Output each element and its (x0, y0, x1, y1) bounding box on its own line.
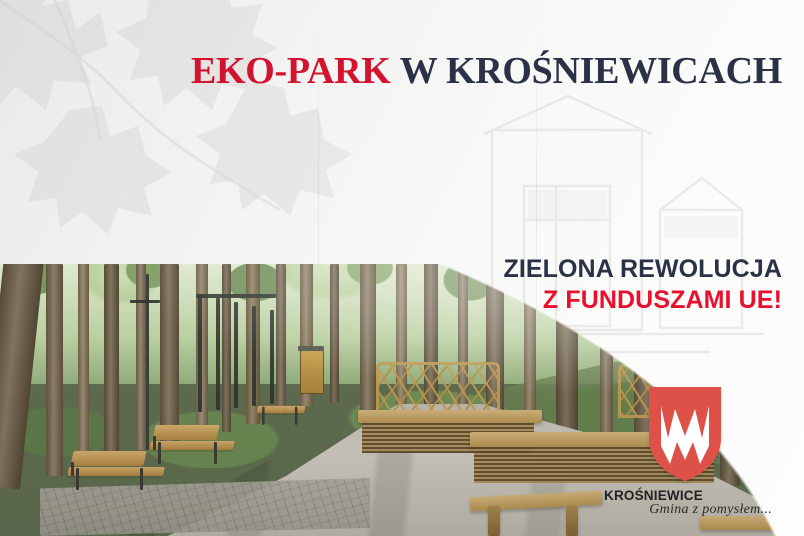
coat-of-arms-icon (648, 386, 722, 482)
shield-body (649, 387, 721, 481)
municipality-logo: KROŚNIEWICE Gmina z pomysłem... (590, 386, 780, 518)
logo-slogan: Gmina z pomysłem... (590, 502, 780, 518)
subtitle-line-2: Z FUNDUSZAMI UE! (503, 285, 782, 316)
poster-canvas: EKO-PARK W KROŚNIEWICACH ZIELONA REWOLUC… (0, 0, 804, 536)
logo-municipality-name: KROŚNIEWICE (590, 488, 780, 503)
poster-title: EKO-PARK W KROŚNIEWICACH (0, 52, 782, 90)
poster-subtitle: ZIELONA REWOLUCJA Z FUNDUSZAMI UE! (503, 254, 782, 315)
title-space (391, 50, 400, 92)
title-w-krosniewicach: W KROŚNIEWICACH (400, 50, 782, 92)
subtitle-line-1: ZIELONA REWOLUCJA (503, 254, 782, 285)
title-eko-park: EKO-PARK (191, 50, 391, 92)
